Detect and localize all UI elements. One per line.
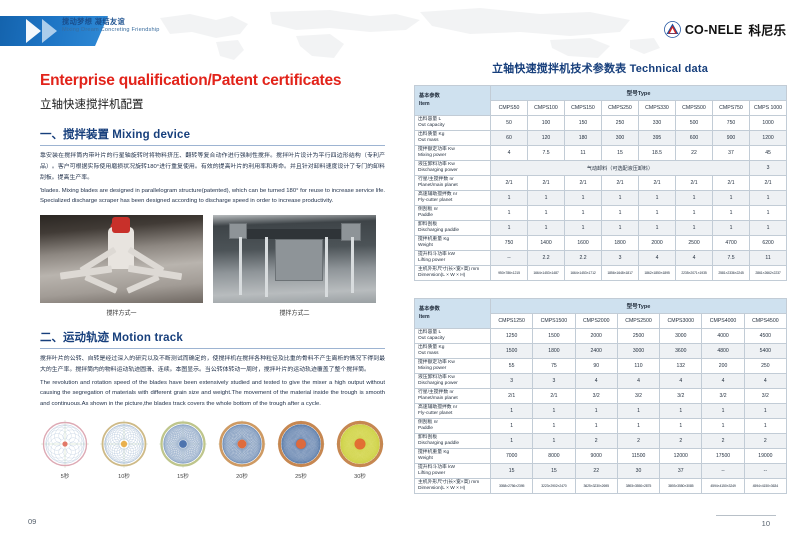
row-value-cell: 22 (575, 464, 617, 479)
row-item-label: 搅拌机重量 KgWeight (415, 449, 491, 464)
section-1-body-cn: 靠安装在搅拌筒内带叶片的行星轴旋转时将物料挤压、翻转等复合动作进行强制性搅拌。搅… (40, 151, 385, 184)
table-row: 提升料斗功率 kWLifting power--2.22.23447.511 (415, 251, 787, 266)
row-value-cell: 1 (639, 191, 676, 206)
row-value-cell: 8000 (533, 449, 575, 464)
row-value-cell: 3/2 (744, 389, 786, 404)
company-logo: CO-NELE 科尼乐 (664, 20, 786, 39)
row-value-cell: 1 (491, 434, 533, 449)
table-row: 搅拌额定功率 KwMixing power557590110132200250 (415, 359, 787, 374)
row-item-label: 出料容量 LOut capacity (415, 116, 491, 131)
co-nele-triangle-logo-icon (664, 21, 681, 38)
row-value-cell: 1 (602, 221, 639, 236)
row-value-cell: 1 (617, 419, 659, 434)
row-value-cell: 1 (491, 206, 528, 221)
row-value-cell: 9000 (575, 449, 617, 464)
table-row: 卸料刮板Discharging paddle11111111 (415, 221, 787, 236)
row-value-cell: 1 (528, 221, 565, 236)
row-value-cell: 4000 (702, 329, 744, 344)
row-value-cell: 4 (676, 251, 713, 266)
table-row: 出料容量 LOut capacity5010015025033050075010… (415, 116, 787, 131)
row-item-label: 搅拌额定功率 KwMixing power (415, 146, 491, 161)
row-value-cell: 7000 (491, 449, 533, 464)
table-row: 液压卸料功率 KwDischarging power3344444 (415, 374, 787, 389)
motion-track-3: 15秒 (158, 419, 208, 480)
chevron-right-icon (26, 19, 41, 43)
motion-track-6: 30秒 (335, 419, 385, 480)
row-item-label: 液压卸料功率 KwDischarging power (415, 374, 491, 389)
logo-text-cn: 科尼乐 (748, 20, 786, 39)
table-row: 行星/主搅拌数 nrPlanet/main planet2/12/12/12/1… (415, 176, 787, 191)
row-value-cell: 1 (713, 206, 750, 221)
mixing-method-1-photo (40, 215, 203, 303)
row-value-cell: 37 (660, 464, 702, 479)
row-value-cell: 2 (617, 434, 659, 449)
row-value-cell: 1862×1850×1895 (639, 266, 676, 281)
row-item-label: 液压卸料功率 KwDischarging power (415, 161, 491, 176)
row-value-cell: 1 (744, 404, 786, 419)
motion-track-label: 15秒 (158, 472, 208, 480)
left-column: Enterprise qualification/Patent certific… (40, 72, 385, 480)
model-header-cell: CMPS150 (565, 101, 602, 116)
model-header-cell: CMPS2500 (617, 314, 659, 329)
section-1-body-en: 'blades. Mixing blades are designed in p… (40, 186, 385, 207)
row-value-cell: 4594×4150×3249 (702, 479, 744, 494)
row-value-cell: 1 (491, 221, 528, 236)
table-header-row: 基本参数Item型号Type (415, 299, 787, 314)
row-value-cell: 1 (602, 191, 639, 206)
section-2-body-cn: 搅拌叶片的公转、自转是经过深入的研究以及不断测试而确定的，使搅拌机在搅拌各种粒径… (40, 354, 385, 376)
table-row: 提升料斗功率 kWLifting power1515223037---- (415, 464, 787, 479)
row-value-cell: 4 (702, 374, 744, 389)
row-value-cell: 1 (660, 404, 702, 419)
motion-track-svg (276, 419, 326, 469)
row-value-cell: -- (744, 464, 786, 479)
row-value-cell: 150 (565, 116, 602, 131)
row-value-cell: 1664×1453×1712 (565, 266, 602, 281)
row-value-cell: 1 (533, 434, 575, 449)
row-item-label: 搅拌额定功率 KwMixing power (415, 359, 491, 374)
row-value-cell: 1 (617, 404, 659, 419)
motion-track-label: 10秒 (99, 472, 149, 480)
row-value-cell: 1 (676, 221, 713, 236)
row-item-label: 卸料刮板Discharging paddle (415, 221, 491, 236)
motion-track-svg (335, 419, 385, 469)
row-value-cell: 2235×2071×1935 (676, 266, 713, 281)
model-header-cell: CMPS1500 (533, 314, 575, 329)
model-header-cell: CMPS500 (676, 101, 713, 116)
row-value-cell: 330 (639, 116, 676, 131)
leg (239, 237, 242, 295)
row-value-cell: 132 (660, 359, 702, 374)
row-value-cell: 2 (702, 434, 744, 449)
model-header-cell: CMPS100 (528, 101, 565, 116)
row-item-label: 提升料斗功率 kWLifting power (415, 251, 491, 266)
row-value-cell: 4700 (713, 236, 750, 251)
row-value-cell: 600 (676, 131, 713, 146)
model-header-cell: CMPS750 (713, 101, 750, 116)
row-value-cell: 1 (565, 206, 602, 221)
row-value-cell: 1 (491, 191, 528, 206)
row-value-cell: 1 (676, 191, 713, 206)
section-2-body-en: The revolution and rotation speed of the… (40, 378, 385, 410)
row-value-cell: 250 (602, 116, 639, 131)
beam (231, 229, 359, 239)
row-value-cell: 3 (491, 374, 533, 389)
row-value-cell: 3 (750, 161, 787, 176)
row-value-cell: 11500 (617, 449, 659, 464)
row-item-label: 提升料斗功率 kWLifting power (415, 464, 491, 479)
row-value-cell: 3/2 (660, 389, 702, 404)
slogan-cn: 搅动梦想 凝结友谊 (62, 18, 160, 26)
row-value-cell: 50 (491, 116, 528, 131)
row-value-cell: 11 (750, 251, 787, 266)
row-value-cell: 120 (528, 131, 565, 146)
motion-track-label: 25秒 (276, 472, 326, 480)
row-value-cell: 1 (639, 221, 676, 236)
row-value-cell: 1 (491, 419, 533, 434)
table-header-row: 基本参数Item型号Type (415, 86, 787, 101)
type-header: 型号Type (491, 86, 787, 101)
row-value-cell: 2 (744, 434, 786, 449)
page-number-rule (716, 515, 776, 516)
row-value-cell: 2000 (575, 329, 617, 344)
row-item-label: 侧刮板 nrPaddle (415, 206, 491, 221)
row-value-cell: 110 (617, 359, 659, 374)
leg (351, 237, 354, 293)
leg (325, 237, 328, 297)
row-value-cell: 1000 (750, 116, 787, 131)
row-item-label: 出料质量 KgOut mass (415, 344, 491, 359)
row-value-cell: 3893×3550×3085 (660, 479, 702, 494)
row-value-cell: 100 (528, 116, 565, 131)
row-value-cell: 1800 (602, 236, 639, 251)
photo-2-wrap: 搅拌方式二 (213, 215, 376, 317)
row-value-cell: 15 (602, 146, 639, 161)
row-value-cell: 2/1 (750, 176, 787, 191)
row-value-cell: 2/1 (491, 176, 528, 191)
model-header-cell: CMPS2000 (575, 314, 617, 329)
row-value-cell: 3000 (660, 329, 702, 344)
row-value-cell: 4800 (702, 344, 744, 359)
row-value-cell: 1 (602, 206, 639, 221)
motion-track-svg (99, 419, 149, 469)
row-value-cell: 2/1 (565, 176, 602, 191)
row-value-cell: 1 (744, 419, 786, 434)
row-value-cell: 2 (660, 434, 702, 449)
row-value-cell: 1 (533, 404, 575, 419)
row-item-label: 行星/主搅拌数 nrPlanet/main planet (415, 176, 491, 191)
row-value-cell: 2/1 (528, 176, 565, 191)
row-value-cell: 1 (565, 221, 602, 236)
row-value-cell: 3 (602, 251, 639, 266)
row-value-cell: 45 (750, 146, 787, 161)
row-value-cell: 2/1 (639, 176, 676, 191)
page-number-right: 10 (762, 519, 770, 528)
plate (229, 223, 247, 239)
row-value-cell: 2000 (639, 236, 676, 251)
row-value-cell: 2.2 (528, 251, 565, 266)
row-value-cell: 90 (575, 359, 617, 374)
table-row: 液压卸料功率 KwDischarging power气动卸料（可选配液压卸料）3 (415, 161, 787, 176)
row-value-cell: 250 (744, 359, 786, 374)
page-title-en: Enterprise qualification/Patent certific… (40, 72, 385, 90)
row-value-cell: 2/1 (491, 389, 533, 404)
row-value-cell: 2500 (676, 236, 713, 251)
row-value-cell: 7.5 (713, 251, 750, 266)
photo-1-wrap: 搅拌方式一 (40, 215, 203, 317)
row-value-cell: 2.2 (565, 251, 602, 266)
row-value-cell: 1 (528, 206, 565, 221)
row-value-cell: 500 (676, 116, 713, 131)
row-item-label: 高速辅助搅拌数 nrFly-cutter planet (415, 191, 491, 206)
blade (126, 274, 160, 293)
row-value-cell: 17500 (702, 449, 744, 464)
section-2-heading-en: Motion track (112, 332, 183, 344)
table-row: 侧刮板 nrPaddle1111111 (415, 419, 787, 434)
row-value-cell: 200 (702, 359, 744, 374)
row-value-cell: 950×786×1215 (491, 266, 528, 281)
technical-data-table-1: 基本参数Item型号TypeCMPS50CMPS100CMPS150CMPS25… (414, 85, 787, 281)
row-value-cell: 22 (676, 146, 713, 161)
motion-track-label: 20秒 (217, 472, 267, 480)
photo-2-caption: 搅拌方式二 (213, 308, 376, 317)
row-value-cell: 1250 (491, 329, 533, 344)
row-value-cell: 12000 (660, 449, 702, 464)
leg (265, 237, 268, 297)
blade (84, 274, 118, 293)
row-value-cell: 4 (660, 374, 702, 389)
table-row: 搅拌机重量 KgWeight70008000900011500120001750… (415, 449, 787, 464)
row-value-cell: 2/1 (676, 176, 713, 191)
row-value-cell: 15 (533, 464, 575, 479)
row-value-cell: 1600 (565, 236, 602, 251)
row-value-cell: 1 (750, 206, 787, 221)
row-value-cell: 1 (713, 221, 750, 236)
model-header-cell: CMPS50 (491, 101, 528, 116)
brand-slogan: 搅动梦想 凝结友谊 Mixing Dream Concreting Friend… (62, 18, 160, 33)
row-value-cell: 1 (575, 419, 617, 434)
row-value-cell: 1 (750, 221, 787, 236)
row-value-cell: 395 (639, 131, 676, 146)
row-merged-cell: 气动卸料（可选配液压卸料） (491, 161, 750, 176)
table-row: 卸料刮板Discharging paddle1122222 (415, 434, 787, 449)
row-item-label: 主机外形尺寸(长×宽×高) mmDimension(L × W × H) (415, 266, 491, 281)
row-value-cell: 1 (575, 404, 617, 419)
row-value-cell: 1200 (750, 131, 787, 146)
section-2-heading: 二、运动轨迹 Motion track (40, 329, 385, 349)
row-value-cell: 1 (713, 191, 750, 206)
plate (275, 239, 323, 281)
row-value-cell: 3 (533, 374, 575, 389)
brochure-page: 搅动梦想 凝结友谊 Mixing Dream Concreting Friend… (0, 0, 800, 542)
photo-1-caption: 搅拌方式一 (40, 308, 203, 317)
row-value-cell: 5400 (744, 344, 786, 359)
logo-text: CO-NELE (685, 23, 743, 37)
row-value-cell: 3/2 (702, 389, 744, 404)
motion-track-5: 25秒 (276, 419, 326, 480)
row-value-cell: 7.5 (528, 146, 565, 161)
row-value-cell: 2/1 (602, 176, 639, 191)
row-value-cell: 4 (575, 374, 617, 389)
row-value-cell: 2400 (575, 344, 617, 359)
row-value-cell: 1500 (491, 344, 533, 359)
row-item-label: 主机外形尺寸(长×宽×高) mmDimension(L × W × H) (415, 479, 491, 494)
motion-track-2: 10秒 (99, 419, 149, 480)
row-item-label: 搅拌机重量 KgWeight (415, 236, 491, 251)
row-value-cell: 3/2 (575, 389, 617, 404)
row-value-cell: -- (702, 464, 744, 479)
row-value-cell: 1800 (533, 344, 575, 359)
row-value-cell: 4 (617, 374, 659, 389)
row-value-cell: 1 (639, 206, 676, 221)
row-value-cell: 1 (565, 191, 602, 206)
row-value-cell: 2500 (617, 329, 659, 344)
row-value-cell: 4 (639, 251, 676, 266)
row-value-cell: 1856×1648×1817 (602, 266, 639, 281)
motion-track-label: 30秒 (335, 472, 385, 480)
row-value-cell: 1664×1453×1487 (528, 266, 565, 281)
row-item-label: 出料容量 LOut capacity (415, 329, 491, 344)
row-value-cell: 1 (491, 404, 533, 419)
item-header: 基本参数Item (415, 299, 491, 329)
row-value-cell: 4 (744, 374, 786, 389)
row-value-cell: 1 (528, 191, 565, 206)
technical-data-title: 立轴快速搅拌机技术参数表 Technical data (414, 60, 786, 76)
row-value-cell: 3600 (660, 344, 702, 359)
row-value-cell: 1 (750, 191, 787, 206)
section-2-heading-cn: 二、运动轨迹 (40, 332, 109, 344)
section-1-heading: 一、搅拌装置 Mixing device (40, 126, 385, 146)
row-value-cell: 1 (660, 419, 702, 434)
table-row: 出料质量 KgOut mass601201803003956009001200 (415, 131, 787, 146)
section-1-heading-cn: 一、搅拌装置 (40, 129, 109, 141)
model-header-cell: CMPS4500 (744, 314, 786, 329)
row-value-cell: 2581×2336×2245 (713, 266, 750, 281)
row-value-cell: 37 (713, 146, 750, 161)
table-row: 出料容量 LOut capacity1250150020002500300040… (415, 329, 787, 344)
row-value-cell: 300 (602, 131, 639, 146)
row-value-cell: 18.5 (639, 146, 676, 161)
row-value-cell: 1 (702, 404, 744, 419)
model-header-cell: CMPS 1000 (750, 101, 787, 116)
type-header: 型号Type (491, 299, 787, 314)
row-value-cell: 75 (533, 359, 575, 374)
row-value-cell: 3058×2756×2395 (491, 479, 533, 494)
mixer-cap (112, 217, 130, 233)
row-item-label: 行星/主搅拌数 nrPlanet/main planet (415, 389, 491, 404)
row-value-cell: 19000 (744, 449, 786, 464)
table-row: 侧刮板 nrPaddle11111111 (415, 206, 787, 221)
motion-track-1: 5秒 (40, 419, 90, 480)
table-row: 主机外形尺寸(长×宽×高) mmDimension(L × W × H)3058… (415, 479, 787, 494)
motion-track-label: 5秒 (40, 472, 90, 480)
motion-track-svg (217, 419, 267, 469)
motion-track-svg (40, 419, 90, 469)
model-header-cell: CMPS250 (602, 101, 639, 116)
chevron-right-icon-2 (42, 19, 57, 43)
world-map-background (120, 6, 680, 64)
row-item-label: 高速辅助搅拌数 nrFly-cutter planet (415, 404, 491, 419)
model-header-cell: CMPS1250 (491, 314, 533, 329)
row-value-cell: 3223×2902×2470 (533, 479, 575, 494)
row-value-cell: 900 (713, 131, 750, 146)
row-item-label: 侧刮板 nrPaddle (415, 419, 491, 434)
motion-track-svg (158, 419, 208, 469)
row-value-cell: 1 (533, 419, 575, 434)
row-value-cell: 30 (617, 464, 659, 479)
table-row: 主机外形尺寸(长×宽×高) mmDimension(L × W × H)950×… (415, 266, 787, 281)
row-value-cell: 3000 (617, 344, 659, 359)
row-value-cell: 3893×3550×2875 (617, 479, 659, 494)
row-value-cell: 2861×2662×2237 (750, 266, 787, 281)
row-value-cell: 6200 (750, 236, 787, 251)
table-row: 出料质量 KgOut mass1500180024003000360048005… (415, 344, 787, 359)
row-value-cell: 4500 (744, 329, 786, 344)
table-row: 搅拌额定功率 KwMixing power47.5111518.5223745 (415, 146, 787, 161)
row-value-cell: 2/1 (533, 389, 575, 404)
row-value-cell: 3625×3230×2695 (575, 479, 617, 494)
table-row: 搅拌机重量 KgWeight75014001600180020002500470… (415, 236, 787, 251)
model-header-cell: CMPS4000 (702, 314, 744, 329)
row-value-cell: 15 (491, 464, 533, 479)
section-1-heading-en: Mixing device (112, 129, 190, 141)
model-header-cell: CMPS3000 (660, 314, 702, 329)
row-value-cell: 750 (713, 116, 750, 131)
row-value-cell: 1500 (533, 329, 575, 344)
motion-track-4: 20秒 (217, 419, 267, 480)
right-column: 立轴快速搅拌机技术参数表 Technical data 基本参数Item型号Ty… (414, 60, 786, 494)
mixing-device-photos: 搅拌方式一 搅拌方式二 (40, 215, 385, 317)
table-row: 高速辅助搅拌数 nrFly-cutter planet11111111 (415, 191, 787, 206)
row-value-cell: 11 (565, 146, 602, 161)
mixing-method-2-photo (213, 215, 376, 303)
technical-data-table-2: 基本参数Item型号TypeCMPS1250CMPS1500CMPS2000CM… (414, 298, 787, 494)
row-item-label: 出料质量 KgOut mass (415, 131, 491, 146)
model-header-cell: CMPS330 (639, 101, 676, 116)
row-value-cell: 1400 (528, 236, 565, 251)
item-header: 基本参数Item (415, 86, 491, 116)
table-row: 行星/主搅拌数 nrPlanet/main planet2/12/13/23/2… (415, 389, 787, 404)
row-value-cell: -- (491, 251, 528, 266)
row-value-cell: 2 (575, 434, 617, 449)
row-value-cell: 2/1 (713, 176, 750, 191)
table-row: 高速辅助搅拌数 nrFly-cutter planet1111111 (415, 404, 787, 419)
row-value-cell: 3/2 (617, 389, 659, 404)
row-value-cell: 60 (491, 131, 528, 146)
row-value-cell: 1 (702, 419, 744, 434)
row-value-cell: 1 (676, 206, 713, 221)
slogan-en: Mixing Dream Concreting Friendship (62, 27, 160, 33)
row-item-label: 卸料刮板Discharging paddle (415, 434, 491, 449)
row-value-cell: 4594×4150×3634 (744, 479, 786, 494)
page-title-cn: 立轴快速搅拌机配置 (40, 96, 385, 112)
row-value-cell: 750 (491, 236, 528, 251)
row-value-cell: 55 (491, 359, 533, 374)
page-number-left: 09 (28, 517, 36, 526)
motion-track-diagrams: 5秒10秒15秒20秒25秒30秒 (40, 419, 385, 480)
row-value-cell: 180 (565, 131, 602, 146)
row-value-cell: 4 (491, 146, 528, 161)
